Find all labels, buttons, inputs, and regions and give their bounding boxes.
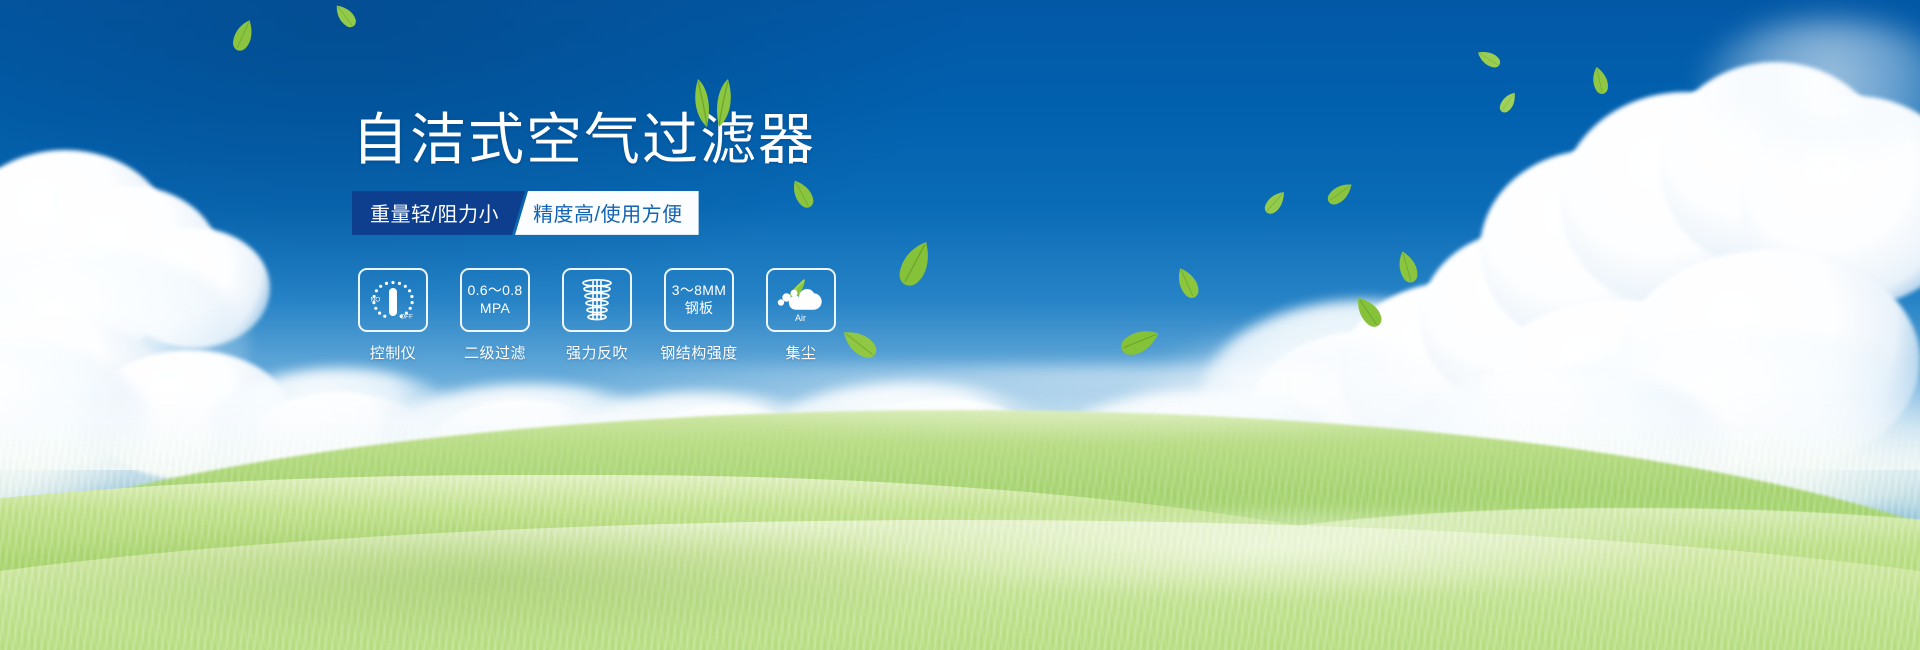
feature-icon-box: NO OFF [358,268,428,332]
feature-icon-box: Air [766,268,836,332]
pressure-unit: MPA [480,300,510,318]
feature-label: 集尘 [760,342,842,363]
gauge-icon: NO OFF [367,276,419,324]
feature-icon-box [562,268,632,332]
feature-item-steel[interactable]: 3～8MM 钢板 钢结构强度 [658,268,740,363]
grass-highlight [0,366,1920,486]
gauge-off-label: OFF [400,313,413,320]
steel-plate-material: 钢板 [685,300,714,318]
feature-icon-box: 0.6～0.8 MPA [460,268,530,332]
air-label: Air [795,313,806,323]
title-leaves-icon [682,73,744,129]
grass-shading [0,510,1920,650]
steel-plate-icon: 3～8MM [672,282,726,300]
feature-item-controller[interactable]: NO OFF 控制仪 [352,268,434,363]
feature-label: 钢结构强度 [658,342,740,363]
feature-label: 二级过滤 [454,342,536,363]
feature-label: 控制仪 [352,342,434,363]
feature-label: 强力反吹 [556,342,638,363]
badge-lightweight[interactable]: 重量轻/阻力小 [352,191,525,235]
feature-item-blowback[interactable]: 强力反吹 [556,268,638,363]
badge-label: 重量轻/阻力小 [370,198,499,227]
blowback-icon [576,277,618,323]
grass-field [0,360,1920,650]
feature-item-filtration[interactable]: 0.6～0.8 MPA 二级过滤 [454,268,536,363]
feature-badges: 重量轻/阻力小 精度高/使用方便 [352,191,675,235]
feature-icon-box: 3～8MM 钢板 [664,268,734,332]
title-wrap: 自洁式空气过滤器 [352,108,1052,172]
badge-label: 精度高/使用方便 [533,198,683,227]
pressure-icon: 0.6～0.8 [467,282,522,300]
feature-list: NO OFF 控制仪 0.6～0.8 MPA 二级过滤 [352,268,1052,363]
air-cloud-icon: Air [775,277,827,323]
banner-content: 自洁式空气过滤器 重量轻/阻力小 精度高/使用方便 [352,108,1052,363]
badge-precision[interactable]: 精度高/使用方便 [515,191,699,235]
product-banner: 自洁式空气过滤器 重量轻/阻力小 精度高/使用方便 [0,0,1920,650]
gauge-on-label: NO [371,296,381,303]
feature-item-dust[interactable]: Air 集尘 [760,268,842,363]
